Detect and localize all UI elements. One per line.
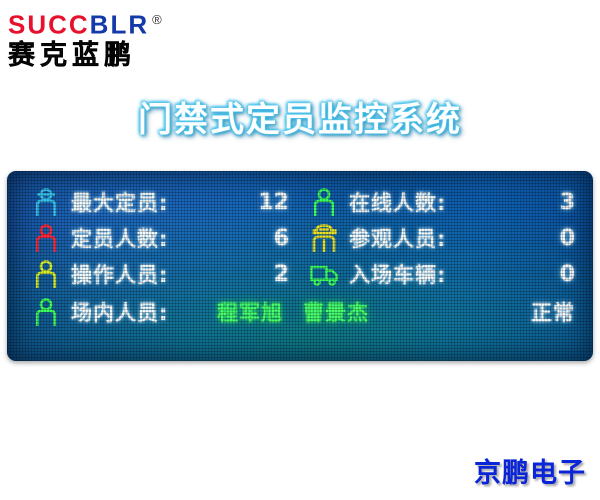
led-label: 定员人数: <box>71 223 168 253</box>
led-row-entered-vehicles: 入场车辆: 0 <box>303 256 589 292</box>
person-cap-icon <box>31 187 61 217</box>
led-value: 0 <box>560 262 575 287</box>
logo-chinese-name: 赛克蓝鹏 <box>8 40 208 72</box>
occupant-name: 程军旭 <box>217 297 283 327</box>
company-logo: SUCCBLR® 赛克蓝鹏 <box>8 6 208 68</box>
status-badge: 正常 <box>531 297 575 327</box>
led-value: 12 <box>258 190 289 215</box>
led-value: 2 <box>274 262 289 287</box>
logo-wordmark: SUCCBLR® <box>8 6 208 39</box>
page-title: 门禁式定员监控系统 <box>0 92 600 141</box>
led-label: 参观人员: <box>349 223 446 253</box>
led-row-max-capacity: 最大定员: 12 <box>25 184 303 220</box>
occupant-names-list: 程军旭 曹景杰 <box>213 294 369 330</box>
led-label: 入场车辆: <box>349 259 446 289</box>
person-hat-icon <box>309 223 339 253</box>
occupant-name: 曹景杰 <box>303 297 369 327</box>
led-row-designated-count: 定员人数: 6 <box>25 220 303 256</box>
person-icon <box>31 259 61 289</box>
led-row-online-count: 在线人数: 3 <box>303 184 589 220</box>
led-row-operators: 操作人员: 2 <box>25 256 303 292</box>
led-value: 6 <box>274 226 289 251</box>
person-icon <box>309 187 339 217</box>
logo-wordmark-succ: SUCC <box>8 10 90 40</box>
logo-wordmark-blr: BLR <box>90 10 149 40</box>
person-icon <box>31 223 61 253</box>
registered-trademark-icon: ® <box>152 12 164 27</box>
truck-icon <box>309 259 339 289</box>
led-label: 场内人员: <box>71 297 168 327</box>
led-value: 0 <box>560 226 575 251</box>
footer-brand: 京鹏电子 <box>474 451 586 490</box>
led-value: 3 <box>560 190 575 215</box>
led-display-panel: 最大定员: 12 定员人数: 6 操作人员: 2 <box>7 171 593 361</box>
led-label: 操作人员: <box>71 259 168 289</box>
led-label: 最大定员: <box>71 187 168 217</box>
person-icon <box>31 297 61 327</box>
led-label: 在线人数: <box>349 187 446 217</box>
led-row-visitors: 参观人员: 0 <box>303 220 589 256</box>
